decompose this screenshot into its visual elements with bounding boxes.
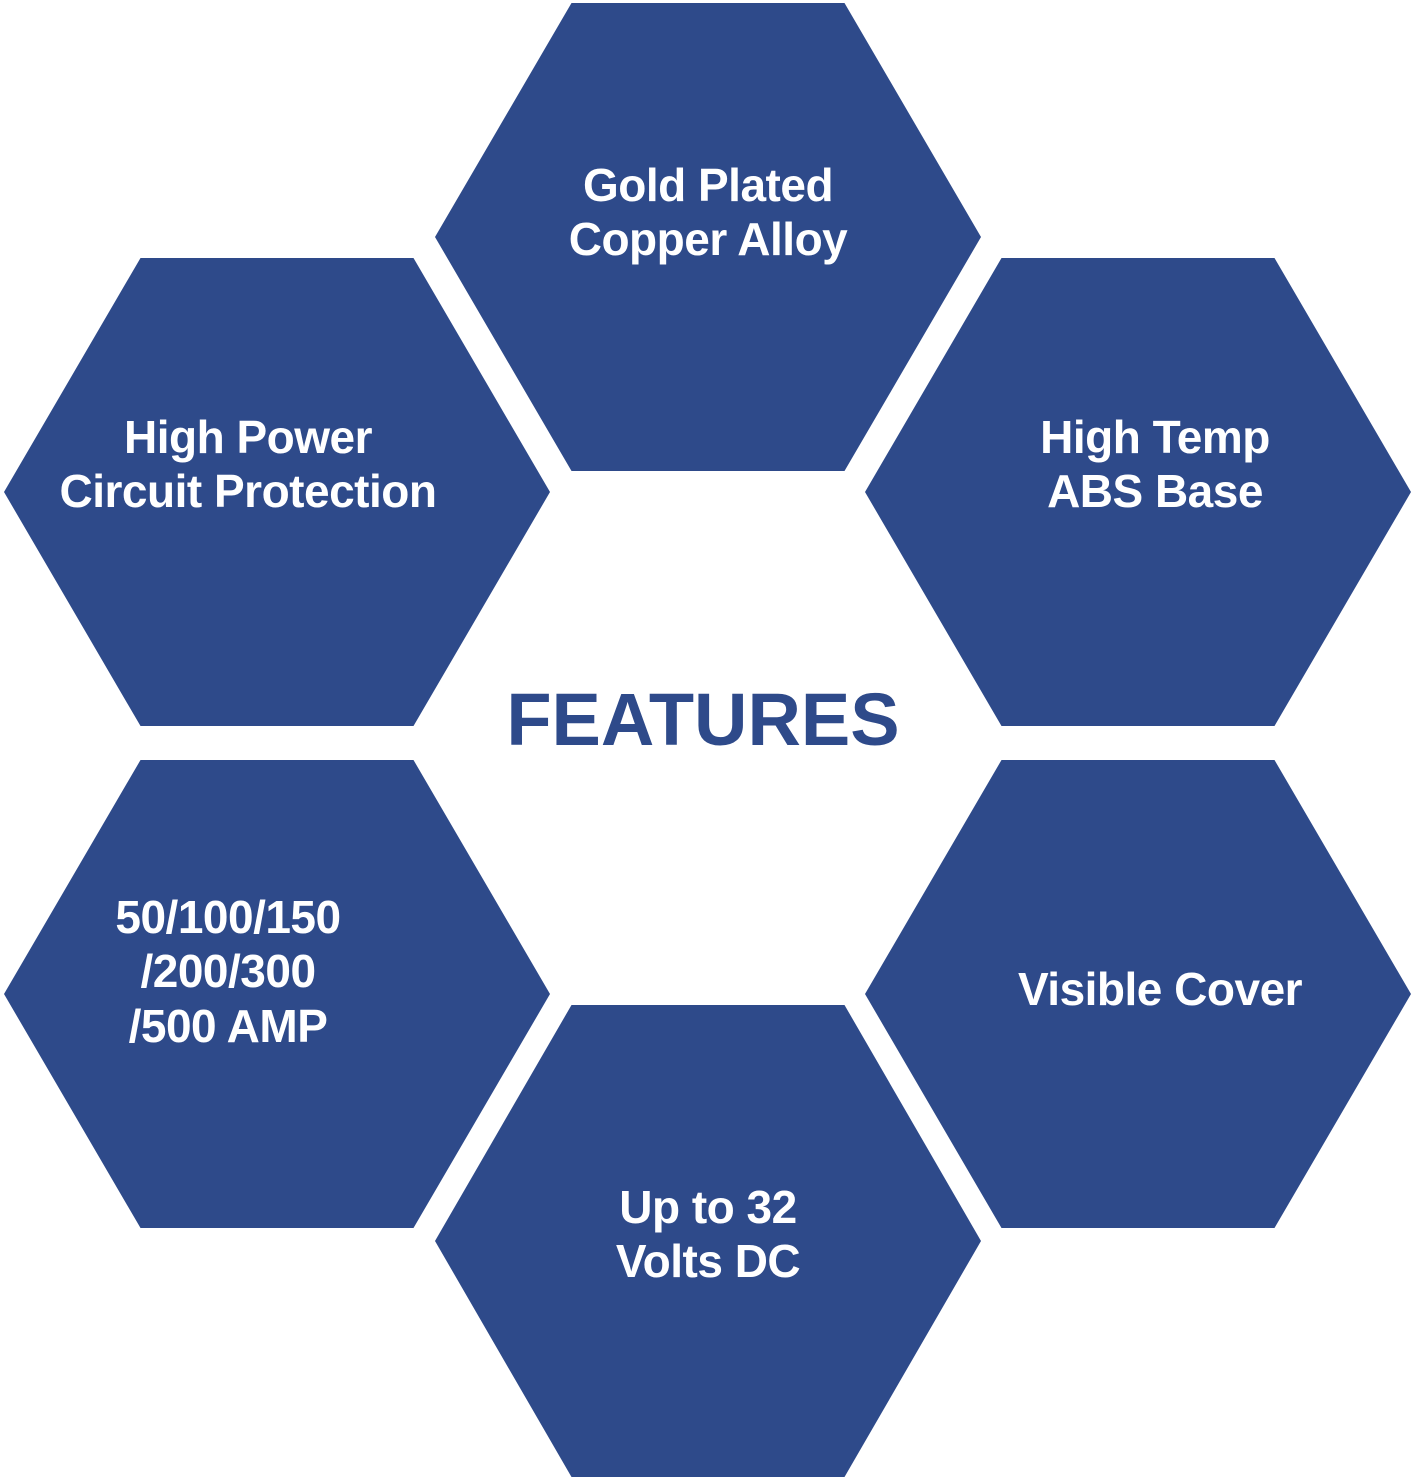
hexagon-gold-plated-copper-alloy xyxy=(435,3,981,471)
features-title: FEATURES xyxy=(403,683,1003,757)
hexagon-high-power-circuit-protection xyxy=(4,258,550,726)
hexagon-high-temp-abs-base xyxy=(865,258,1411,726)
hexagon-visible-cover xyxy=(865,760,1411,1228)
hexagon-up-to-32-volts-dc xyxy=(435,1005,981,1477)
features-infographic: Gold Plated Copper Alloy High Power Circ… xyxy=(0,0,1412,1478)
hexagon-amp-ratings xyxy=(4,760,550,1228)
